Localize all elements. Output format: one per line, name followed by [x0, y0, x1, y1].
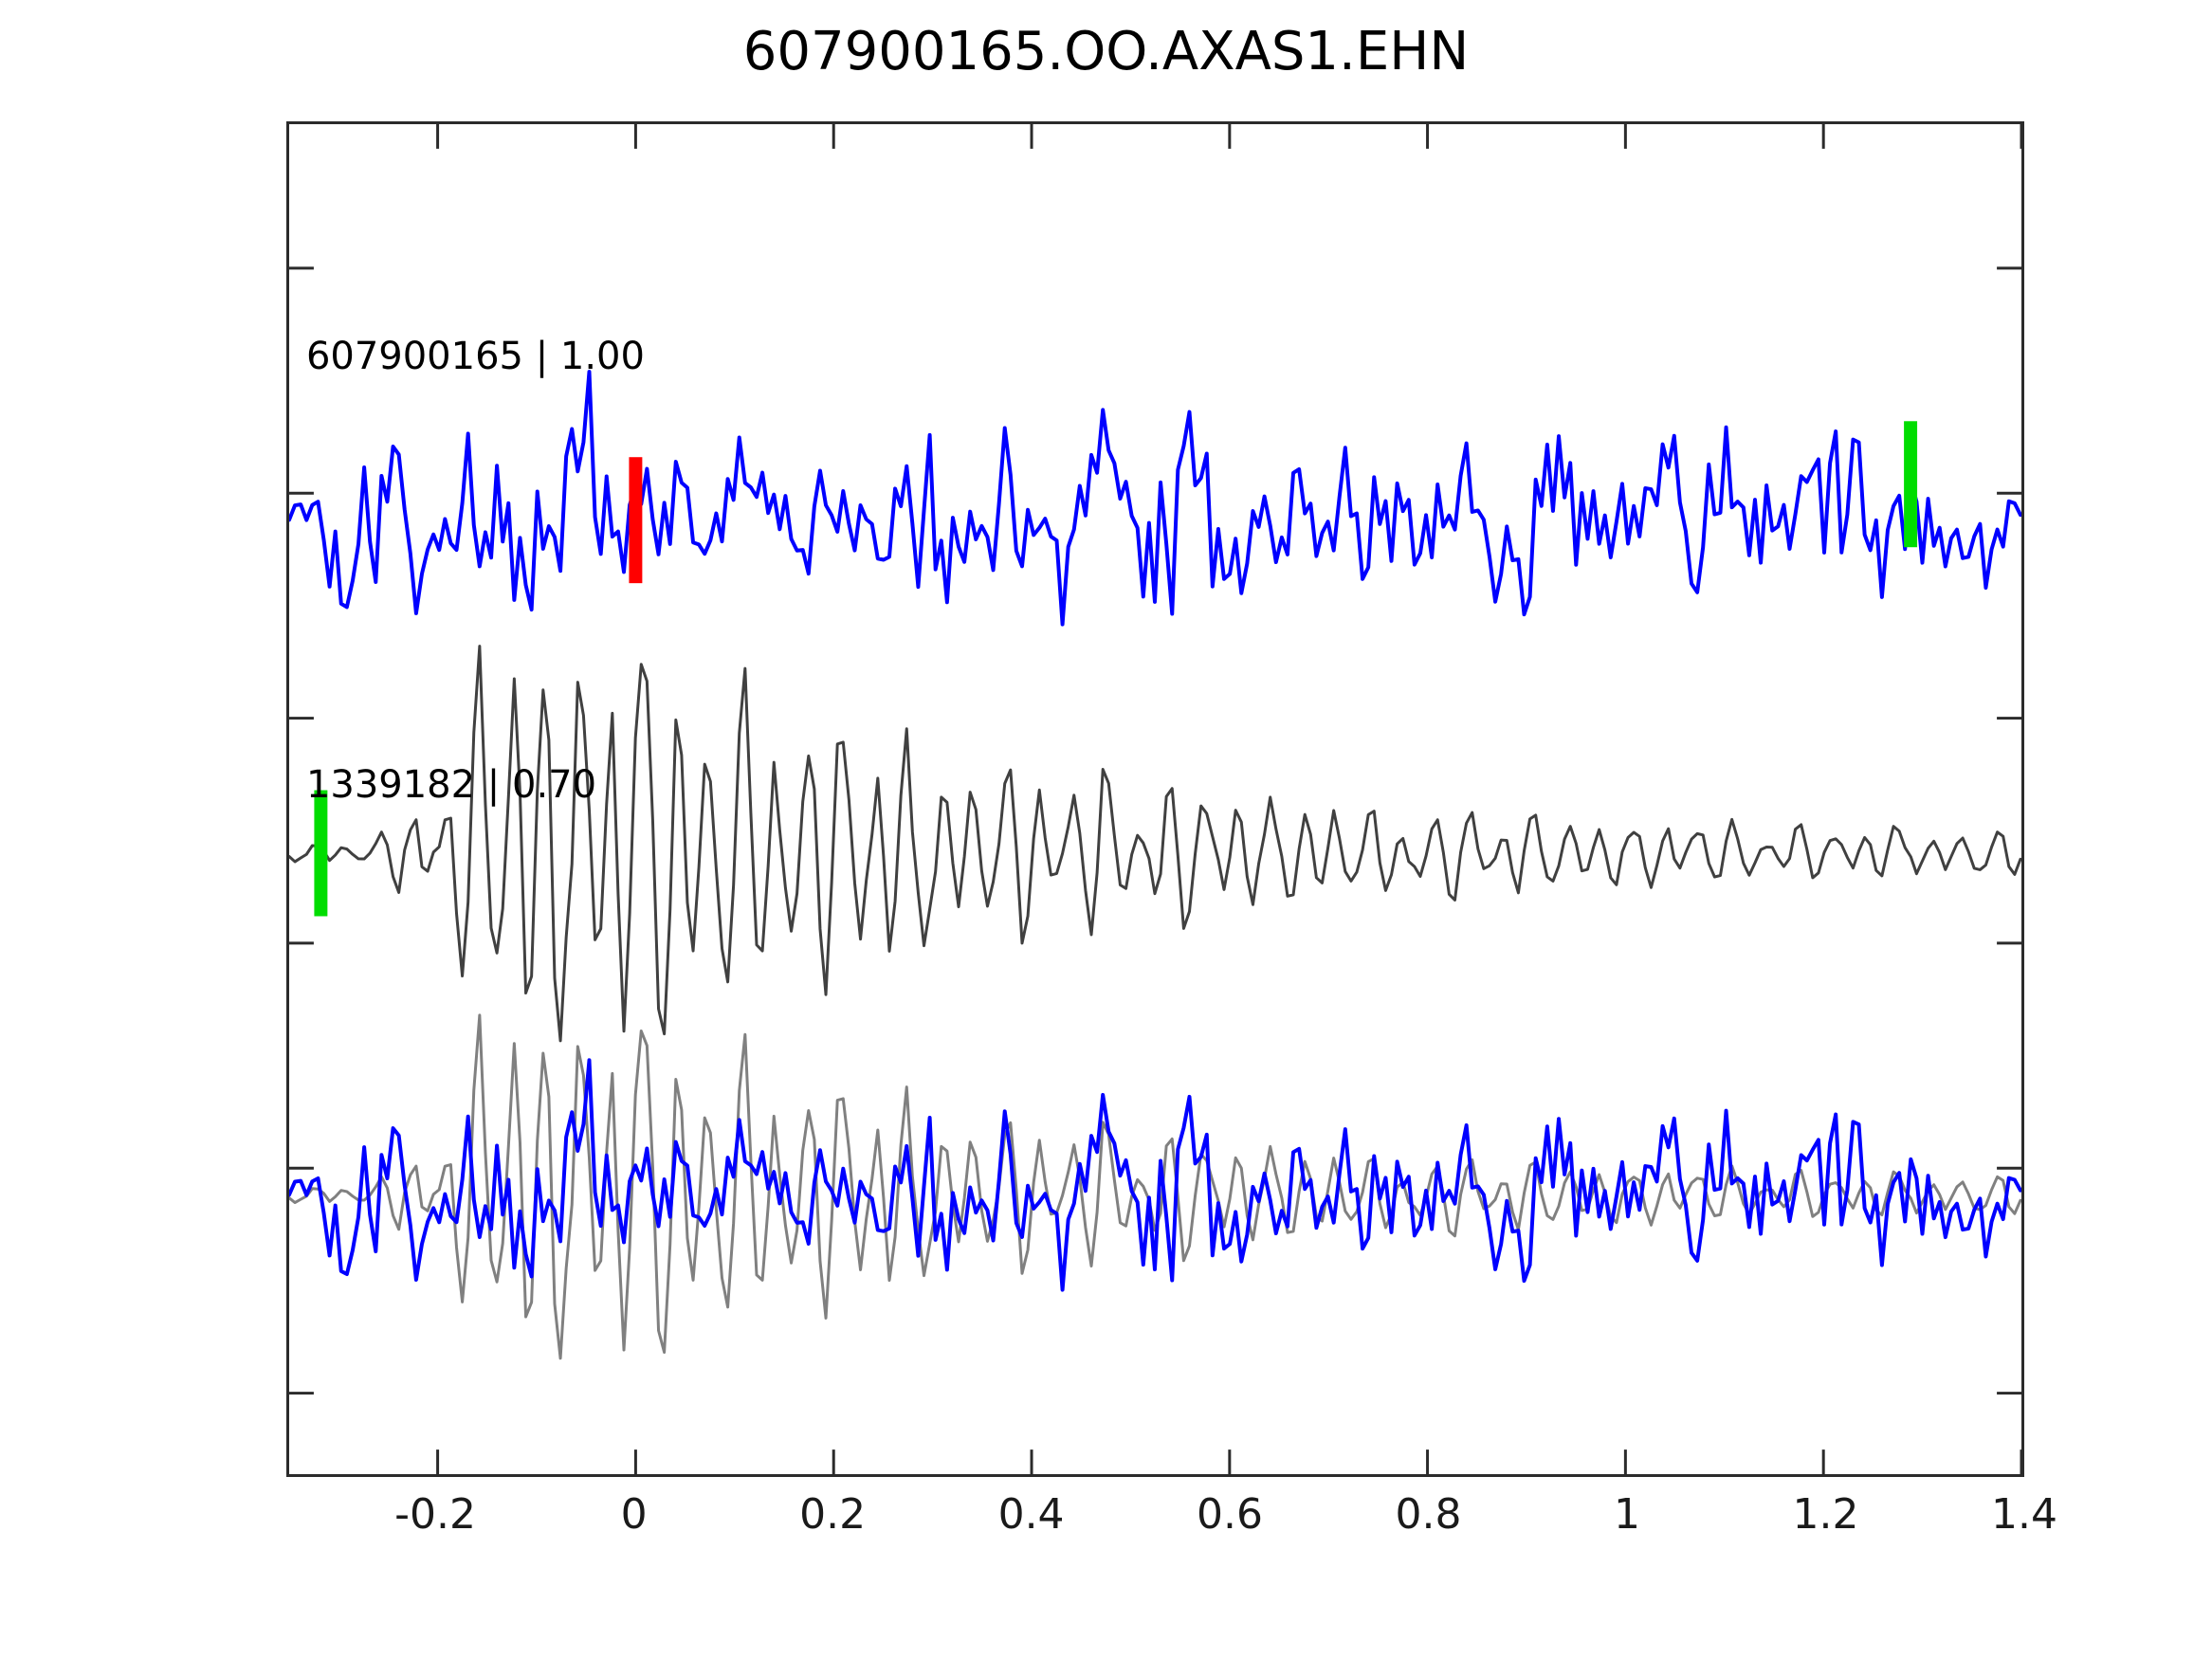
x-tick-label-4: 0.6	[1197, 1490, 1263, 1539]
x-tick-label-5: 0.8	[1396, 1490, 1462, 1539]
detection-p-pick	[629, 457, 642, 583]
x-tick-label-0: -0.2	[394, 1490, 476, 1539]
x-tick-label-6: 1	[1614, 1490, 1640, 1539]
seismogram-figure: 607900165.OO.AXAS1.EHN -0.200.20.40.60.8…	[0, 0, 2212, 1659]
template-s-pick	[314, 791, 327, 917]
x-tick-label-8: 1.4	[1991, 1490, 2057, 1539]
trace-overlay-template	[289, 1015, 2020, 1358]
x-tick-label-1: 0	[621, 1490, 648, 1539]
trace-detection	[289, 372, 2020, 625]
trace-template	[289, 647, 2020, 1041]
page-title: 607900165.OO.AXAS1.EHN	[0, 21, 2212, 82]
x-tick-label-2: 0.2	[799, 1490, 866, 1539]
detection-label: 607900165 | 1.00	[306, 335, 645, 378]
detection-s-pick	[1904, 421, 1917, 547]
template-label: 1339182 | 0.70	[306, 763, 596, 807]
x-tick-label-7: 1.2	[1793, 1490, 1859, 1539]
x-tick-label-3: 0.4	[998, 1490, 1065, 1539]
